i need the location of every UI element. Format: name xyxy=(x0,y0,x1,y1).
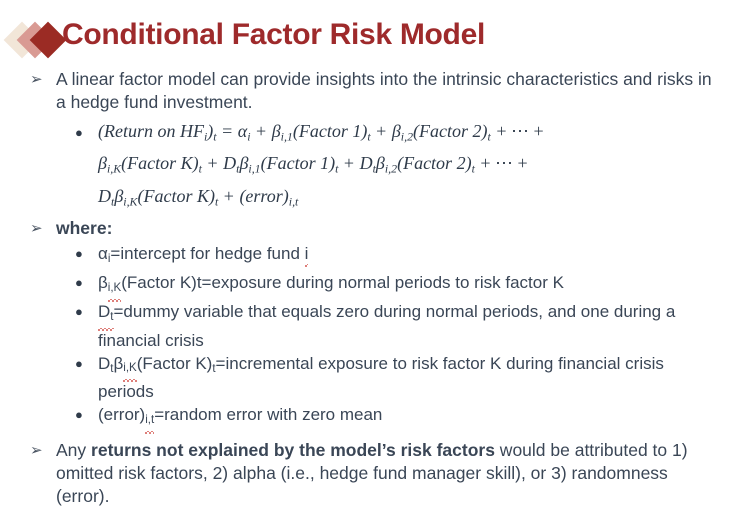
arrow-bullet-icon: ➢ xyxy=(30,217,43,240)
conclusion-bold: returns not explained by the model’s ris… xyxy=(91,440,495,460)
eq3-error: (error) xyxy=(239,186,288,206)
definition-dummy: ● Dt=dummy variable that equals zero dur… xyxy=(0,300,736,352)
round-bullet-icon: ● xyxy=(75,403,83,426)
def-alpha-text: =intercept for hedge fund xyxy=(110,244,304,263)
slide-header: Conditional Factor Risk Model xyxy=(0,14,736,64)
definition-incremental: ● Dtβi,K(Factor K)t=incremental exposure… xyxy=(0,352,736,404)
def-error-sub: i,t xyxy=(145,409,154,432)
eq1-beta-1: β xyxy=(272,121,281,141)
eq1-factor-2-sub: t xyxy=(488,129,491,143)
eq2-factor-2: (Factor 2) xyxy=(397,153,471,173)
eq3-beta: β xyxy=(114,186,123,206)
round-bullet-icon: ● xyxy=(75,242,83,265)
def-alpha-trailing-i: i xyxy=(305,242,309,265)
eq1-factor-2: (Factor 2) xyxy=(413,121,487,141)
where-label: where: xyxy=(56,217,712,240)
definition-beta: ● βi,K(Factor K)t=exposure during normal… xyxy=(0,271,736,300)
bullet-conclusion: ➢ Any returns not explained by the model… xyxy=(0,439,736,508)
eq2-beta-2-sub: i,2 xyxy=(385,162,397,176)
eq2-factor-1: (Factor 1) xyxy=(261,153,335,173)
eq2-beta-1-sub: i,1 xyxy=(248,162,260,176)
def-dummy-sub: t xyxy=(110,311,113,323)
eq2-plus-2: + xyxy=(343,153,355,173)
round-bullet-icon: ● xyxy=(75,271,83,294)
eq3-factor-k-sub: t xyxy=(215,194,218,208)
eq2-tail: + ⋯ + xyxy=(479,153,528,173)
eq3-factor-k: (Factor K) xyxy=(137,186,214,206)
eq2-d-1: D xyxy=(223,153,236,173)
eq1-lhs-sub-t: t xyxy=(213,129,216,143)
eq2-factor-2-sub: t xyxy=(472,162,475,176)
def-inc-beta-sub: i,K xyxy=(123,357,136,380)
slide-body: ➢ A linear factor model can provide insi… xyxy=(0,68,736,510)
eq2-d-2: D xyxy=(360,153,373,173)
eq2-beta-2: β xyxy=(376,153,385,173)
def-beta-text: (Factor K)t=exposure during normal perio… xyxy=(121,273,564,292)
bullet-intro: ➢ A linear factor model can provide insi… xyxy=(0,68,736,114)
eq3-error-sub: i,t xyxy=(289,194,299,208)
def-dummy-symbol: D xyxy=(98,302,110,321)
def-inc-mid: (Factor K) xyxy=(137,354,213,373)
eq3-d: D xyxy=(98,186,111,206)
equation-line-2: βi,K(Factor K)t + Dtβi,1(Factor 1)t + Dt… xyxy=(98,150,722,182)
eq2-beta-k: β xyxy=(98,153,107,173)
def-error-text: =random error with zero mean xyxy=(154,405,382,424)
def-dummy-symbol-wrap: Dt xyxy=(98,300,114,329)
def-dummy-text: =dummy variable that equals zero during … xyxy=(98,302,675,350)
eq3-plus: + xyxy=(223,186,235,206)
equation-line-1: (Return on HFi)t = αi + βi,1(Factor 1)t … xyxy=(98,118,722,150)
eq1-beta-2-sub: i,2 xyxy=(401,129,413,143)
eq3-beta-sub: i,K xyxy=(123,194,137,208)
bullet-intro-text: A linear factor model can provide insigh… xyxy=(56,68,712,114)
def-inc-beta: β xyxy=(114,354,124,373)
equation-line-3: Dtβi,K(Factor K)t + (error)i,t xyxy=(98,183,722,215)
eq1-factor-1: (Factor 1) xyxy=(293,121,367,141)
eq2-plus-1: + xyxy=(206,153,218,173)
eq2-factor-1-sub: t xyxy=(335,162,338,176)
page-title: Conditional Factor Risk Model xyxy=(62,18,485,52)
eq1-beta-1-sub: i,1 xyxy=(281,129,293,143)
round-bullet-icon: ● xyxy=(75,300,83,323)
def-inc-d: D xyxy=(98,354,110,373)
def-alpha-symbol: α xyxy=(98,244,108,263)
round-bullet-icon: ● xyxy=(75,352,83,375)
conclusion-text: Any returns not explained by the model’s… xyxy=(56,439,712,508)
eq1-alpha-sub: i xyxy=(247,129,250,143)
bullet-where: ➢ where: xyxy=(0,217,736,240)
definition-error: ● (error)i,t=random error with zero mean xyxy=(0,403,736,432)
eq1-plus-2: + xyxy=(375,121,387,141)
eq1-lhs: (Return on HF xyxy=(98,121,204,141)
slide: Conditional Factor Risk Model ➢ A linear… xyxy=(0,0,736,512)
conclusion-prefix: Any xyxy=(56,440,91,460)
round-bullet-icon: ● xyxy=(75,119,83,146)
eq1-equals: = xyxy=(221,121,233,141)
eq1-alpha: α xyxy=(238,121,247,141)
arrow-bullet-icon: ➢ xyxy=(30,439,43,462)
equation-block: ● (Return on HFi)t = αi + βi,1(Factor 1)… xyxy=(0,118,736,215)
definition-alpha: ● αi=intercept for hedge fund i xyxy=(0,242,736,271)
def-error-symbol: (error) xyxy=(98,405,145,424)
eq1-plus-1: + xyxy=(255,121,267,141)
eq1-tail: + ⋯ + xyxy=(495,121,544,141)
def-beta-sub: i,K xyxy=(108,277,121,300)
arrow-bullet-icon: ➢ xyxy=(30,68,43,91)
eq2-beta-k-sub: i,K xyxy=(107,162,121,176)
eq1-beta-2: β xyxy=(392,121,401,141)
eq2-factor-k-sub: t xyxy=(199,162,202,176)
eq2-factor-k: (Factor K) xyxy=(121,153,198,173)
eq1-factor-1-sub: t xyxy=(367,129,370,143)
def-beta-symbol: β xyxy=(98,273,108,292)
